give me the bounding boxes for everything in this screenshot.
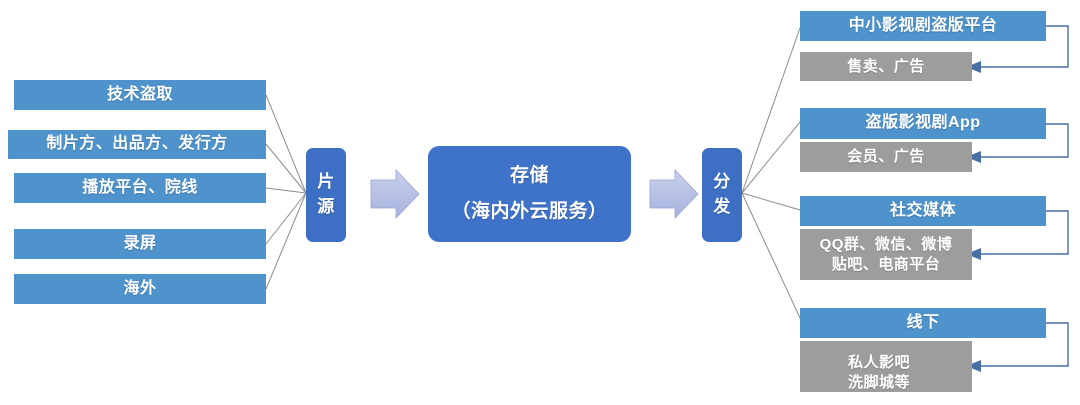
source-label-2: 制片方、出品方、发行方 (46, 135, 228, 153)
pirated-video-distribution-flowchart: 技术盗取 制片方、出品方、发行方 播放平台、院线 录屏 海外 片 源 存储 （海… (0, 0, 1080, 405)
source-box-2[interactable]: 制片方、出品方、发行方 (8, 130, 266, 159)
wire-source-3 (266, 188, 306, 193)
monetization-line-3-2: 贴吧、电商平台 (832, 255, 941, 275)
destination-channel-box-1[interactable]: 中小影视剧盗版平台 (800, 11, 1046, 41)
monetization-line-3-1: QQ群、微信、微博 (820, 235, 953, 255)
source-box-1[interactable]: 技术盗取 (14, 80, 266, 110)
source-label-1: 技术盗取 (107, 86, 173, 104)
destination-channel-box-3[interactable]: 社交媒体 (800, 196, 1046, 226)
source-fanin-lines (266, 95, 306, 289)
source-label-3: 播放平台、院线 (82, 179, 198, 197)
wire-dest-4 (742, 193, 800, 318)
wire-dest-2 (742, 122, 800, 193)
destination-channel-box-2[interactable]: 盗版影视剧App (800, 108, 1046, 139)
hub-source-line-2: 源 (317, 195, 335, 220)
wire-source-5 (266, 193, 306, 289)
source-label-4: 录屏 (123, 235, 156, 253)
destination-channel-box-4[interactable]: 线下 (800, 308, 1046, 338)
hub-source-line-1: 片 (317, 170, 335, 195)
arrow-source-to-storage (371, 170, 419, 218)
source-box-5[interactable]: 海外 (14, 274, 266, 304)
source-box-3[interactable]: 播放平台、院线 (14, 173, 266, 203)
storage-line-1: 存储 (510, 158, 549, 194)
destination-monetization-box-3[interactable]: QQ群、微信、微博 贴吧、电商平台 (800, 229, 972, 280)
wire-dest-3 (742, 193, 800, 210)
arrow-storage-to-distribute (650, 170, 698, 218)
monetization-line-1-1: 售卖、广告 (847, 57, 925, 77)
wire-source-4 (266, 193, 306, 244)
hub-distribute-line-1: 分 (713, 170, 731, 195)
wire-source-2 (266, 144, 306, 193)
destination-monetization-box-1[interactable]: 售卖、广告 (800, 52, 972, 81)
hub-source-box[interactable]: 片 源 (306, 148, 346, 242)
source-label-5: 海外 (123, 280, 156, 298)
source-box-4[interactable]: 录屏 (14, 229, 266, 259)
monetization-line-4-2: 洗脚城等 (848, 373, 910, 393)
destination-channel-label-3: 社交媒体 (890, 202, 956, 220)
destination-fanout-lines (742, 28, 800, 318)
destination-monetization-box-4[interactable]: 私人影吧 洗脚城等 (800, 341, 972, 392)
wire-source-1 (266, 95, 306, 193)
destination-channel-label-4: 线下 (906, 314, 939, 332)
storage-box[interactable]: 存储 （海内外云服务） (428, 146, 631, 242)
wire-dest-1 (742, 28, 800, 193)
destination-channel-label-1: 中小影视剧盗版平台 (849, 17, 998, 35)
destination-channel-label-2: 盗版影视剧App (865, 114, 980, 132)
hub-distribute-box[interactable]: 分 发 (702, 148, 742, 242)
storage-line-2: （海内外云服务） (451, 194, 607, 230)
monetization-line-4-1: 私人影吧 (848, 353, 910, 373)
destination-monetization-box-2[interactable]: 会员、广告 (800, 142, 972, 172)
monetization-line-2-1: 会员、广告 (847, 147, 925, 167)
hub-distribute-line-2: 发 (713, 195, 731, 220)
